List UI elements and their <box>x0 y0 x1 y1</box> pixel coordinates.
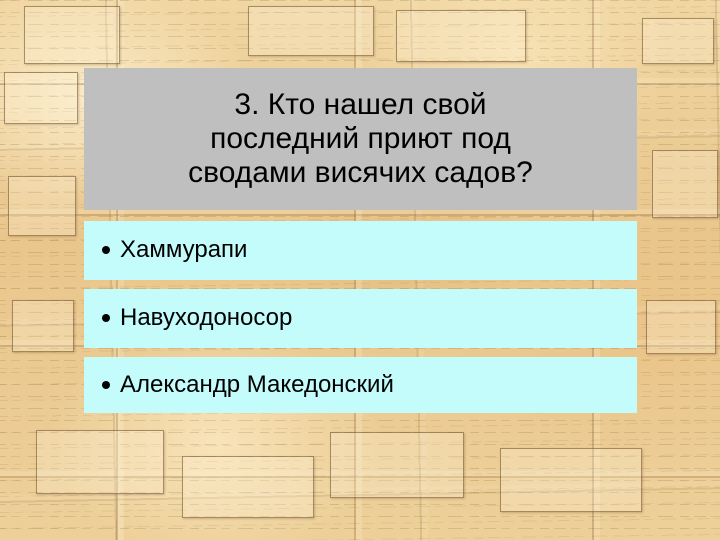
bullet-icon <box>102 381 110 389</box>
answer-option-2[interactable]: Навуходоносор <box>84 289 637 348</box>
background-document-8 <box>36 430 164 494</box>
background-document-11 <box>500 448 642 512</box>
background-document-3 <box>642 18 714 64</box>
question-text: 3. Кто нашел свой последний приют под св… <box>188 88 533 191</box>
bullet-icon <box>102 314 110 322</box>
answer-row: Александр Македонский <box>84 372 394 398</box>
answer-label-2: Навуходоносор <box>120 305 292 331</box>
answer-row: Хаммурапи <box>84 237 247 263</box>
answer-label-3: Александр Македонский <box>120 372 394 398</box>
quiz-slide: 3. Кто нашел свой последний приют под св… <box>0 0 720 540</box>
answer-row: Навуходоносор <box>84 305 292 331</box>
background-document-7 <box>12 300 74 352</box>
background-document-6 <box>646 300 716 354</box>
background-document-10 <box>330 432 464 498</box>
bullet-icon <box>102 246 110 254</box>
background-document-9 <box>182 456 314 518</box>
question-title-box: 3. Кто нашел свой последний приют под св… <box>84 68 637 210</box>
background-document-12 <box>248 6 374 56</box>
answer-label-1: Хаммурапи <box>120 237 247 263</box>
background-document-1 <box>24 6 120 64</box>
background-document-13 <box>396 10 526 62</box>
background-document-4 <box>652 150 718 218</box>
answer-option-3[interactable]: Александр Македонский <box>84 357 637 413</box>
background-document-5 <box>8 176 76 236</box>
answer-option-1[interactable]: Хаммурапи <box>84 221 637 280</box>
background-document-2 <box>4 72 78 124</box>
